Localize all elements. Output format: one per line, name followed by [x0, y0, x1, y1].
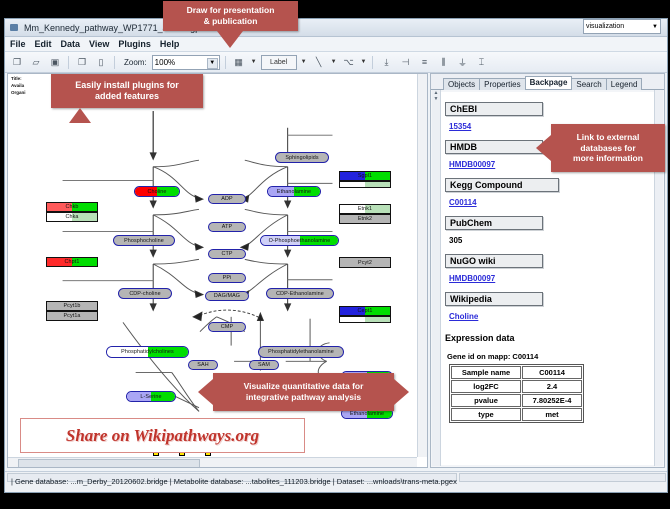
scroll-down-icon[interactable]: ▼ — [432, 96, 440, 102]
expression-data-heading: Expression data — [445, 333, 654, 343]
node-label: Choline — [148, 189, 167, 195]
node-label: Pcyt1b — [63, 303, 80, 309]
chevron-down-icon[interactable]: ▼ — [652, 24, 658, 30]
zoom-label: Zoom: — [124, 58, 147, 67]
tab-backpage[interactable]: Backpage — [525, 76, 573, 89]
open-file-icon[interactable]: ▱ — [28, 54, 44, 70]
callout-visualize: Visualize quantitative data for integrat… — [213, 373, 394, 411]
node-label: L-Serine — [140, 394, 161, 400]
metabolite-node-ppi[interactable]: PPi — [208, 273, 246, 283]
menu-bar: File Edit Data View Plugins Help — [5, 37, 667, 52]
metabolite-node-sphingolipids[interactable]: Sphingolipids — [275, 152, 329, 163]
node-fill-right — [365, 182, 390, 187]
db-value-pubchem: 305 — [449, 236, 462, 245]
table-key: pvalue — [451, 394, 521, 407]
tab-objects[interactable]: Objects — [443, 78, 480, 90]
callout-visualize-arrow-icon — [198, 379, 213, 405]
table-row: type met — [451, 408, 582, 421]
callout-visualize-line2: integrative pathway analysis — [246, 392, 361, 403]
node-label: SAM — [258, 362, 270, 368]
canvas-available-label: Availa — [11, 83, 24, 90]
tab-properties[interactable]: Properties — [479, 78, 525, 90]
chevron-down-icon[interactable]: ▼ — [251, 59, 257, 65]
menu-item-view[interactable]: View — [89, 39, 109, 49]
node-label: Etnk2 — [358, 216, 372, 222]
share-banner: Share on Wikipathways.org — [20, 418, 305, 453]
node-label: Pcyt1a — [63, 313, 80, 319]
callout-draw: Draw for presentation & publication — [163, 1, 298, 31]
callout-links-line3: more information — [573, 153, 643, 164]
metabolite-node-dag-mag[interactable]: DAG/MAG — [205, 291, 249, 301]
metabolite-node-adp[interactable]: ADP — [208, 194, 246, 204]
node-label: SAH — [197, 362, 208, 368]
node-label: Chka — [66, 214, 79, 220]
db-header-chebi: ChEBI — [445, 102, 543, 116]
node-label: ADP — [221, 196, 232, 202]
metabolite-node-phosphatidylcholines[interactable]: Phosphatidylcholines — [106, 346, 189, 358]
metabolite-node-sah[interactable]: SAH — [188, 360, 218, 370]
side-panel-tabs: Objects Properties Backpage Search Legen… — [431, 74, 664, 90]
toolbar: ❐ ▱ ▣ ❐ ▯ Zoom: 100% ▼ ▦ ▼ Label ▼ ╲ ▼ ⌥… — [5, 52, 667, 73]
table-value: met — [522, 408, 582, 421]
share-banner-text: Share on Wikipathways.org — [66, 426, 259, 446]
db-header-hmdb: HMDB — [445, 140, 543, 154]
metabolite-node-cdp-choline[interactable]: CDP-choline — [118, 288, 172, 299]
canvas-hscroll-thumb[interactable] — [18, 459, 200, 468]
callout-plugins-line1: Easily install plugins for — [75, 80, 179, 91]
node-label: Ethanolamine — [277, 189, 311, 195]
align-top-icon[interactable]: ⤓ — [378, 54, 394, 70]
anchor-icon[interactable]: ⌥ — [341, 54, 357, 70]
gene-node-etnk1[interactable]: Etnk1 — [339, 204, 391, 214]
gene-node-cept1-b[interactable] — [339, 316, 391, 323]
db-link-hmdb[interactable]: HMDB00097 — [449, 160, 495, 169]
db-link-chebi[interactable]: 15354 — [449, 122, 471, 131]
db-link-wikipedia[interactable]: Choline — [449, 312, 478, 321]
node-label: Sgpl1 — [358, 173, 372, 179]
metabolite-node-choline-top[interactable]: Choline — [134, 186, 180, 197]
gene-node-chkb[interactable]: Chkb — [46, 202, 98, 212]
node-label: CTP — [221, 251, 232, 257]
table-key: log2FC — [451, 380, 521, 393]
menu-item-help[interactable]: Help — [160, 39, 180, 49]
distribute-icon[interactable]: ⫼ — [435, 54, 451, 70]
canvas-organism-label: Organi — [11, 90, 26, 97]
gene-node-etnk2[interactable]: Etnk2 — [339, 214, 391, 224]
gene-id-line: Gene id on mapp: C00114 — [447, 352, 654, 361]
title-bar: Mm_Kennedy_pathway_WP1771_45176.gpml — [5, 19, 667, 37]
table-value: C00114 — [522, 366, 582, 379]
node-label: Chkb — [66, 204, 79, 210]
chevron-down-icon[interactable]: ▼ — [331, 59, 337, 65]
gene-node-pcyt1a[interactable]: Pcyt1a — [46, 311, 98, 321]
gene-node-sgpl1-b[interactable] — [339, 181, 391, 188]
table-value: 2.4 — [522, 380, 582, 393]
callout-visualize-line1: Visualize quantitative data for — [244, 381, 364, 392]
status-text: | Gene database: ...m_Derby_20120602.bri… — [11, 477, 457, 486]
chevron-down-icon[interactable]: ▼ — [207, 58, 218, 69]
callout-plugins: Easily install plugins for added feature… — [51, 74, 203, 108]
node-label: DAG/MAG — [214, 293, 240, 299]
pathway-canvas[interactable]: Title: Availa Organi — [7, 73, 428, 468]
canvas-title-label: Title: — [11, 76, 22, 83]
table-row: Sample name C00114 — [451, 366, 582, 379]
canvas-vscrollbar[interactable] — [417, 74, 427, 457]
node-label: CDP-choline — [129, 291, 160, 297]
visualization-value: visualization — [586, 23, 624, 30]
app-icon — [9, 22, 20, 33]
node-label: Phosphocholine — [124, 238, 164, 244]
expression-table: Sample name C00114 log2FC 2.4 pvalue 7.8… — [449, 364, 584, 423]
callout-links: Link to external databases for more info… — [551, 124, 665, 172]
node-label: O-Phosphoethanolamine — [269, 238, 331, 244]
callout-plugins-line2: added features — [95, 91, 159, 102]
callout-draw-arrow-icon — [217, 31, 243, 48]
gene-node-chpt1[interactable]: Chpt1 — [46, 257, 98, 267]
menu-item-edit[interactable]: Edit — [35, 39, 52, 49]
order-icon[interactable]: ⌶ — [473, 54, 489, 70]
copy-icon[interactable]: ❐ — [74, 54, 90, 70]
metabolite-node-phosphocholine[interactable]: Phosphocholine — [113, 235, 175, 246]
db-link-nugowiki[interactable]: HMDB00097 — [449, 274, 495, 283]
tab-search[interactable]: Search — [571, 78, 606, 90]
table-key: type — [451, 408, 521, 421]
metabolite-node-ethanolamine-top[interactable]: Ethanolamine — [267, 186, 321, 197]
metabolite-node-cmp[interactable]: CMP — [208, 322, 246, 332]
align-left-icon[interactable]: ⊣ — [397, 54, 413, 70]
metabolite-node-ctp[interactable]: CTP — [208, 249, 246, 259]
node-fill-left — [340, 317, 365, 322]
node-label: Ethanolamine — [350, 411, 384, 417]
gene-node-chka[interactable]: Chka — [46, 212, 98, 222]
node-label: Sphingolipids — [285, 155, 318, 161]
toolbar-separator — [372, 56, 373, 69]
callout-visualize-arrow-right-icon — [394, 379, 409, 405]
pathvisio-window: Mm_Kennedy_pathway_WP1771_45176.gpml Fil… — [4, 18, 668, 493]
node-label: ATP — [222, 224, 232, 230]
node-label: Chpt1 — [65, 259, 80, 265]
db-header-nugowiki: NuGO wiki — [445, 254, 543, 268]
db-header-pubchem: PubChem — [445, 216, 543, 230]
callout-links-arrow-icon — [536, 135, 551, 161]
metabolite-node-sam[interactable]: SAM — [249, 360, 279, 370]
stack-icon[interactable]: ⏚ — [454, 54, 470, 70]
paste-icon[interactable]: ▯ — [93, 54, 109, 70]
gene-node-pcyt1b[interactable]: Pcyt1b — [46, 301, 98, 311]
table-row: log2FC 2.4 — [451, 380, 582, 393]
metabolite-node-o-phosphoethanolamine[interactable]: O-Phosphoethanolamine — [260, 235, 339, 246]
metabolite-node-atp[interactable]: ATP — [208, 222, 246, 232]
metabolite-node-l-serine-left[interactable]: L-Serine — [126, 391, 176, 402]
node-label: CMP — [221, 324, 233, 330]
zoom-value: 100% — [155, 58, 175, 67]
node-label: Phosphatidylethanolamine — [268, 349, 334, 355]
metabolite-node-phosphatidylethanolamine[interactable]: Phosphatidylethanolamine — [258, 346, 344, 358]
callout-draw-line2: & publication — [204, 16, 258, 27]
menu-item-file[interactable]: File — [10, 39, 26, 49]
node-label: CDP-Ethanolamine — [276, 291, 324, 297]
node-label: Pcyt2 — [358, 260, 372, 266]
db-link-kegg[interactable]: C00114 — [449, 198, 477, 207]
align-center-icon[interactable]: ≡ — [416, 54, 432, 70]
gene-node-sgpl1[interactable]: Sgpl1 — [339, 171, 391, 181]
datanode-icon[interactable]: ▦ — [231, 54, 247, 70]
menu-item-plugins[interactable]: Plugins — [118, 39, 151, 49]
new-file-icon[interactable]: ❐ — [9, 54, 25, 70]
callout-links-line2: databases for — [580, 143, 635, 154]
chevron-down-icon[interactable]: ▼ — [361, 59, 367, 65]
status-strip-right — [459, 473, 666, 482]
node-label: Phosphatidylcholines — [121, 349, 174, 355]
toolbar-separator — [114, 56, 115, 69]
db-header-kegg: Kegg Compound — [445, 178, 559, 192]
callout-plugins-arrow-icon — [69, 108, 91, 123]
chevron-down-icon[interactable]: ▼ — [301, 59, 307, 65]
zoom-combo[interactable]: 100% ▼ — [152, 55, 220, 70]
tab-legend[interactable]: Legend — [606, 78, 643, 90]
db-header-wikipedia: Wikipedia — [445, 292, 543, 306]
node-fill-left — [340, 182, 365, 187]
node-label: PPi — [223, 275, 232, 281]
table-row: pvalue 7.80252E-4 — [451, 394, 582, 407]
label-combo[interactable]: Label — [261, 55, 297, 70]
toolbar-separator — [68, 56, 69, 69]
table-value: 7.80252E-4 — [522, 394, 582, 407]
line-icon[interactable]: ╲ — [311, 54, 327, 70]
callout-draw-line1: Draw for presentation — [187, 5, 275, 16]
node-label: Cept1 — [358, 308, 373, 314]
visualization-combo[interactable]: visualization ▼ — [583, 19, 661, 34]
node-label: Etnk1 — [358, 206, 372, 212]
table-key: Sample name — [451, 366, 521, 379]
gene-node-cept1[interactable]: Cept1 — [339, 306, 391, 316]
canvas-hscrollbar[interactable] — [8, 457, 417, 467]
callout-links-line1: Link to external — [577, 132, 640, 143]
toolbar-separator — [225, 56, 226, 69]
status-bar: | Gene database: ...m_Derby_20120602.bri… — [5, 471, 667, 492]
node-fill-right — [365, 317, 390, 322]
save-file-icon[interactable]: ▣ — [47, 54, 63, 70]
side-panel-left-scrollbar[interactable]: ▲ ▼ — [432, 90, 441, 466]
gene-node-pcyt2[interactable]: Pcyt2 — [339, 257, 391, 268]
metabolite-node-cdp-ethanolamine[interactable]: CDP-Ethanolamine — [266, 288, 334, 299]
menu-item-data[interactable]: Data — [61, 39, 81, 49]
